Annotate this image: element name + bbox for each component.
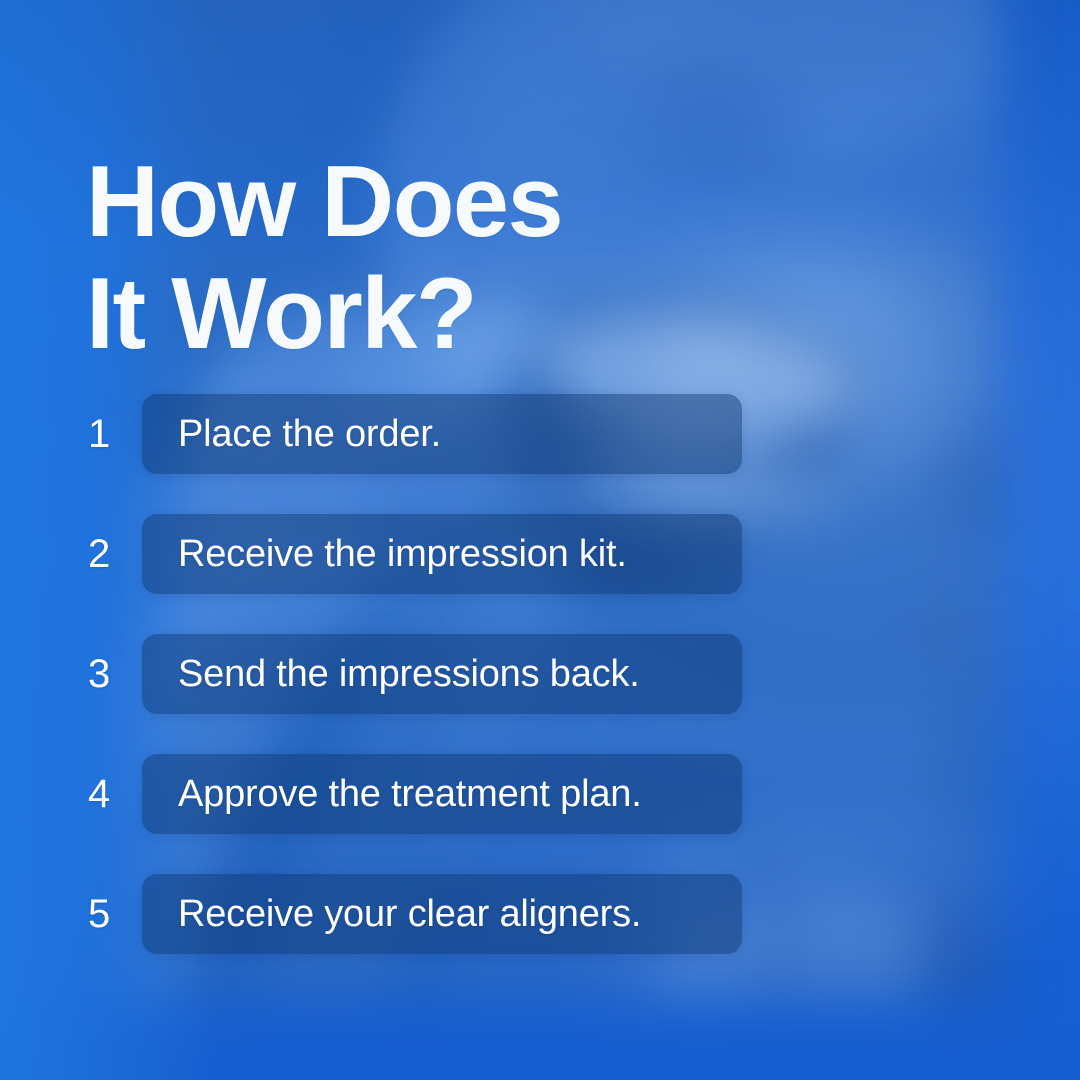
list-item[interactable]: 2 Receive the impression kit. — [0, 514, 1080, 594]
step-pill[interactable]: Receive the impression kit. — [142, 514, 742, 594]
step-label: Receive your clear aligners. — [142, 895, 641, 933]
list-item[interactable]: 1 Place the order. — [0, 394, 1080, 474]
list-item[interactable]: 5 Receive your clear aligners. — [0, 874, 1080, 954]
step-number: 1 — [88, 394, 132, 474]
step-number: 2 — [88, 514, 132, 594]
step-pill[interactable]: Send the impressions back. — [142, 634, 742, 714]
list-item[interactable]: 3 Send the impressions back. — [0, 634, 1080, 714]
step-label: Place the order. — [142, 415, 441, 453]
step-number: 4 — [88, 754, 132, 834]
step-pill[interactable]: Receive your clear aligners. — [142, 874, 742, 954]
step-pill[interactable]: Place the order. — [142, 394, 742, 474]
page-title: How Does It Work? — [86, 146, 562, 370]
steps-list: 1 Place the order. 2 Receive the impress… — [0, 394, 1080, 994]
content-layer: How Does It Work? 1 Place the order. 2 R… — [0, 0, 1080, 1080]
list-item[interactable]: 4 Approve the treatment plan. — [0, 754, 1080, 834]
step-pill[interactable]: Approve the treatment plan. — [142, 754, 742, 834]
step-label: Approve the treatment plan. — [142, 775, 642, 813]
step-number: 5 — [88, 874, 132, 954]
step-label: Send the impressions back. — [142, 655, 640, 693]
step-number: 3 — [88, 634, 132, 714]
social-graphic-canvas: How Does It Work? 1 Place the order. 2 R… — [0, 0, 1080, 1080]
step-label: Receive the impression kit. — [142, 535, 627, 573]
